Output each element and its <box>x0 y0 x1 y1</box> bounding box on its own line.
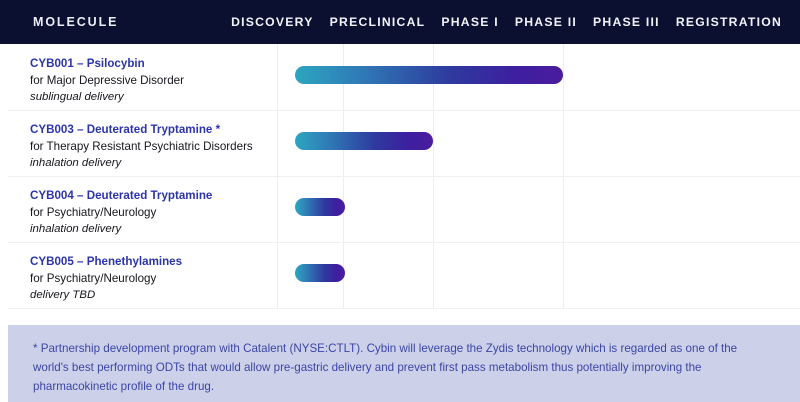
molecule-info: CYB003 – Deuterated Tryptamine * for The… <box>30 121 280 172</box>
pipeline-row[interactable]: CYB001 – Psilocybin for Major Depressive… <box>8 44 800 110</box>
phase-label-preclinical: PRECLINICAL <box>330 15 426 29</box>
pipeline-row[interactable]: CYB004 – Deuterated Tryptamine for Psych… <box>8 176 800 242</box>
molecule-delivery: inhalation delivery <box>30 155 280 172</box>
molecule-indication: for Psychiatry/Neurology <box>30 204 280 221</box>
molecule-delivery: delivery TBD <box>30 287 280 304</box>
molecule-info: CYB001 – Psilocybin for Major Depressive… <box>30 55 280 106</box>
chart-header: MOLECULE DISCOVERY PRECLINICAL PHASE I P… <box>0 0 800 44</box>
phase-label-registration: REGISTRATION <box>676 15 782 29</box>
molecule-indication: for Therapy Resistant Psychiatric Disord… <box>30 138 280 155</box>
molecule-info: CYB004 – Deuterated Tryptamine for Psych… <box>30 187 280 238</box>
phase-label-phase-1: PHASE I <box>441 15 499 29</box>
footnote-panel: * Partnership development program with C… <box>8 325 800 402</box>
phase-label-discovery: DISCOVERY <box>231 15 314 29</box>
phase-label-phase-3: PHASE III <box>593 15 660 29</box>
page-title: MOLECULE <box>33 15 118 29</box>
progress-bar <box>295 198 345 216</box>
molecule-indication: for Psychiatry/Neurology <box>30 270 280 287</box>
pipeline-panel: CYB001 – Psilocybin for Major Depressive… <box>8 44 800 325</box>
molecule-indication: for Major Depressive Disorder <box>30 72 280 89</box>
pipeline-chart: MOLECULE DISCOVERY PRECLINICAL PHASE I P… <box>0 0 800 402</box>
footnote-text: * Partnership development program with C… <box>33 339 773 396</box>
pipeline-row[interactable]: CYB003 – Deuterated Tryptamine * for The… <box>8 110 800 176</box>
progress-bar <box>295 132 433 150</box>
molecule-delivery: sublingual delivery <box>30 89 280 106</box>
row-divider-4 <box>8 308 800 309</box>
molecule-name: CYB001 – Psilocybin <box>30 55 280 72</box>
phase-axis-labels: DISCOVERY PRECLINICAL PHASE I PHASE II P… <box>231 15 782 29</box>
molecule-name: CYB003 – Deuterated Tryptamine * <box>30 121 280 138</box>
molecule-delivery: inhalation delivery <box>30 221 280 238</box>
progress-bar <box>295 264 345 282</box>
progress-bar <box>295 66 563 84</box>
pipeline-row[interactable]: CYB005 – Phenethylamines for Psychiatry/… <box>8 242 800 308</box>
molecule-info: CYB005 – Phenethylamines for Psychiatry/… <box>30 253 280 304</box>
molecule-name: CYB005 – Phenethylamines <box>30 253 280 270</box>
molecule-name: CYB004 – Deuterated Tryptamine <box>30 187 280 204</box>
phase-label-phase-2: PHASE II <box>515 15 577 29</box>
